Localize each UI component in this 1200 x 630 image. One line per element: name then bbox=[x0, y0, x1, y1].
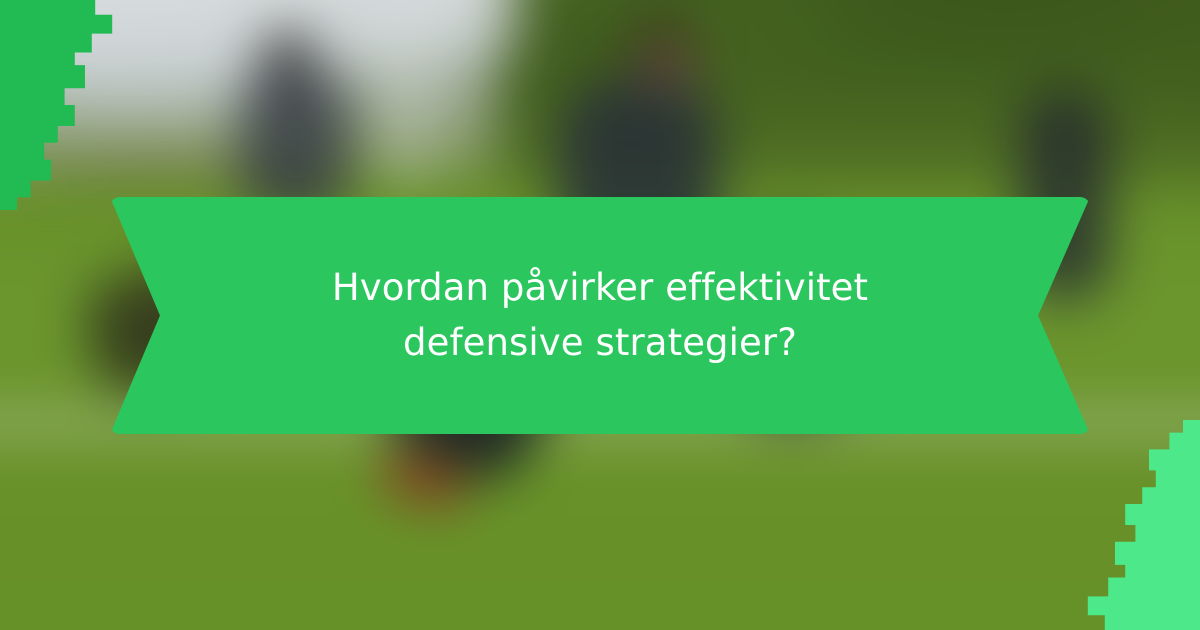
social-card: Hvordan påvirker effektivitet defensive … bbox=[0, 0, 1200, 630]
ribbon-banner: Hvordan påvirker effektivitet defensive … bbox=[110, 197, 1090, 434]
headline-text: Hvordan påvirker effektivitet defensive … bbox=[190, 261, 1010, 371]
